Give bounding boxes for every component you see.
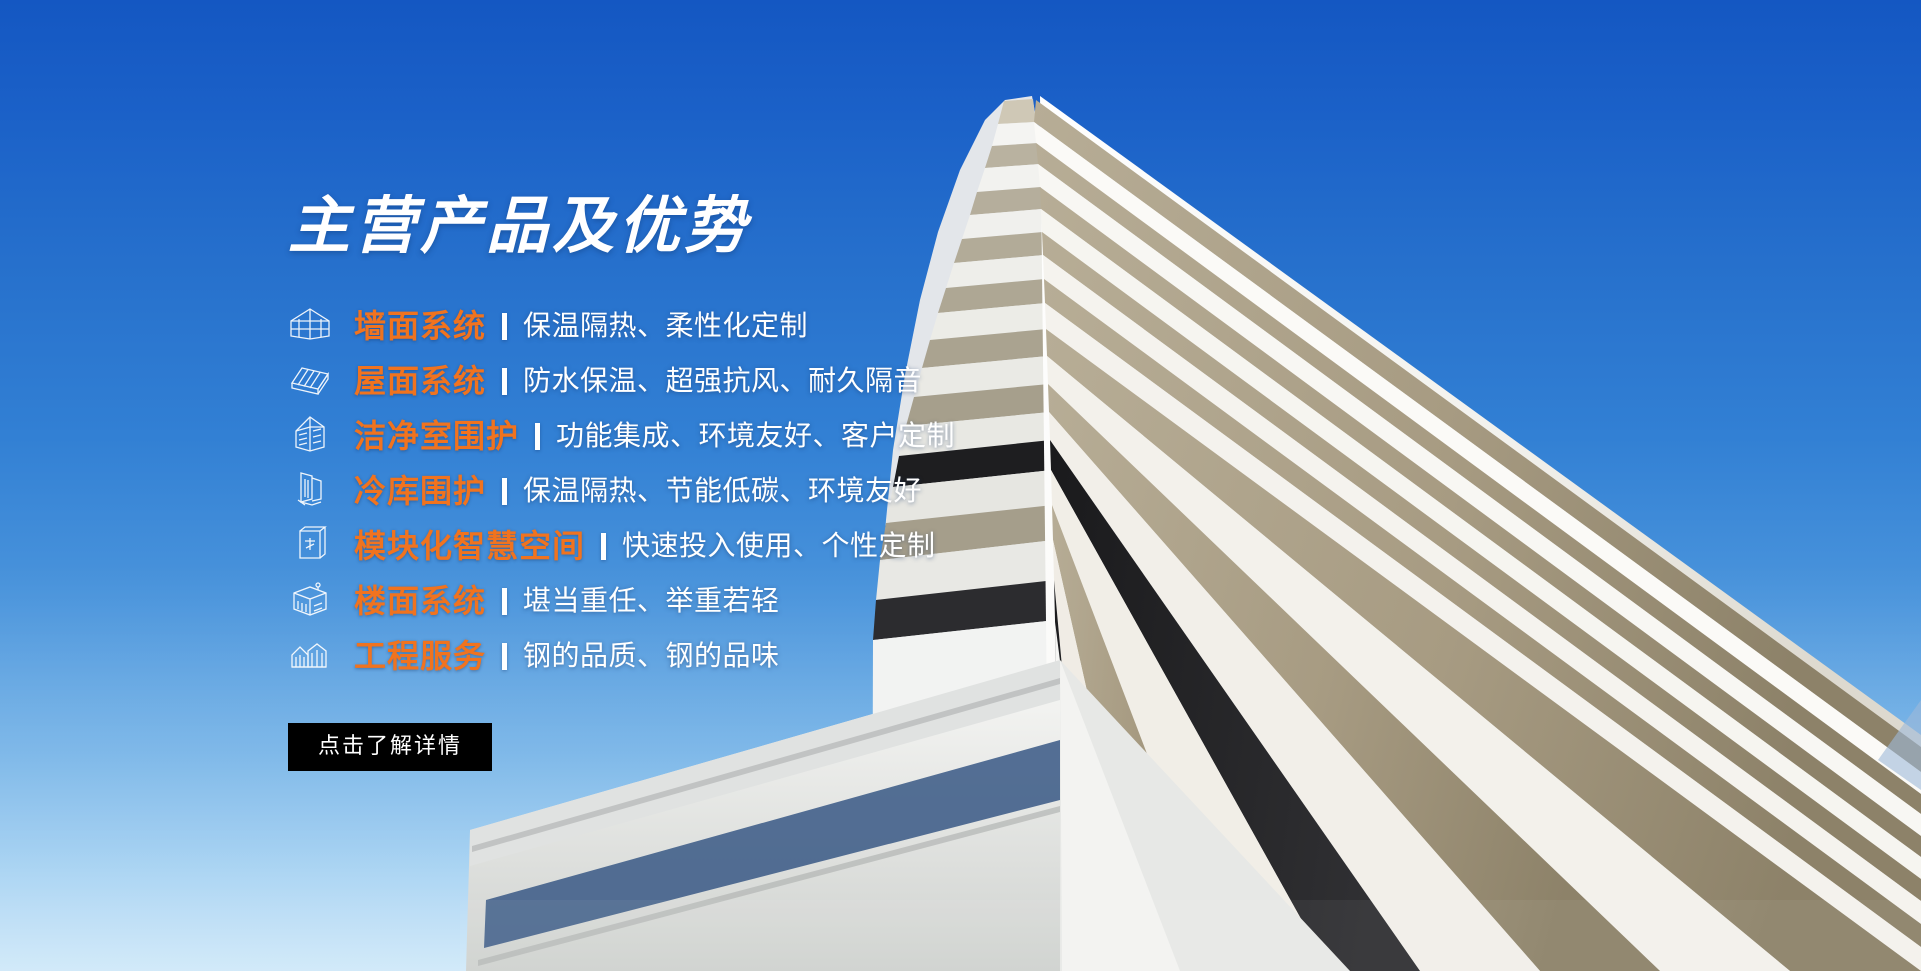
feature-item-cleanroom-enclosure[interactable]: 洁净室围护 功能集成、环境友好、客户定制 bbox=[288, 406, 1148, 461]
feature-item-wall-system[interactable]: 墙面系统 保温隔热、柔性化定制 bbox=[288, 296, 1148, 351]
feature-item-engineering-service[interactable]: 工程服务 钢的品质、钢的品味 bbox=[288, 626, 1148, 681]
feature-description: 保温隔热、柔性化定制 bbox=[523, 304, 808, 344]
feature-list: 墙面系统 保温隔热、柔性化定制 屋面系统 防水保温、超强抗风、耐久隔音 bbox=[288, 296, 1148, 681]
feature-item-floor-system[interactable]: 楼面系统 堪当重任、举重若轻 bbox=[288, 571, 1148, 626]
feature-separator bbox=[502, 643, 507, 670]
feature-item-roof-system[interactable]: 屋面系统 防水保温、超强抗风、耐久隔音 bbox=[288, 351, 1148, 406]
feature-description: 堪当重任、举重若轻 bbox=[523, 579, 780, 619]
wall-panel-icon bbox=[288, 302, 332, 346]
feature-separator bbox=[502, 368, 507, 395]
hero-banner: 主营产品及优势 墙面系统 保温隔热、柔性化定制 bbox=[0, 0, 1921, 971]
roof-panel-icon bbox=[288, 357, 332, 401]
feature-separator bbox=[601, 533, 606, 560]
feature-item-modular-smart-space[interactable]: 模块化智慧空间 快速投入使用、个性定制 bbox=[288, 516, 1148, 571]
feature-description: 快速投入使用、个性定制 bbox=[622, 524, 936, 564]
feature-separator bbox=[502, 313, 507, 340]
feature-name: 工程服务 bbox=[354, 631, 486, 677]
page-title: 主营产品及优势 bbox=[288, 196, 1148, 258]
feature-description: 防水保温、超强抗风、耐久隔音 bbox=[523, 359, 922, 399]
engineering-service-icon bbox=[288, 632, 332, 676]
feature-description: 功能集成、环境友好、客户定制 bbox=[556, 414, 955, 454]
feature-name: 模块化智慧空间 bbox=[354, 521, 585, 567]
feature-description: 保温隔热、节能低碳、环境友好 bbox=[523, 469, 922, 509]
coldstorage-icon bbox=[288, 467, 332, 511]
feature-description: 钢的品质、钢的品味 bbox=[523, 634, 780, 674]
feature-separator bbox=[502, 478, 507, 505]
feature-name: 洁净室围护 bbox=[354, 411, 519, 457]
feature-name: 冷库围护 bbox=[354, 466, 486, 512]
feature-name: 楼面系统 bbox=[354, 576, 486, 622]
feature-name: 屋面系统 bbox=[354, 356, 486, 402]
modular-space-icon bbox=[288, 522, 332, 566]
feature-separator bbox=[502, 588, 507, 615]
floor-system-icon bbox=[288, 577, 332, 621]
learn-more-button[interactable]: 点击了解详情 bbox=[288, 723, 492, 771]
feature-name: 墙面系统 bbox=[354, 301, 486, 347]
hero-content: 主营产品及优势 墙面系统 保温隔热、柔性化定制 bbox=[288, 196, 1148, 771]
feature-item-cold-storage-enclosure[interactable]: 冷库围护 保温隔热、节能低碳、环境友好 bbox=[288, 461, 1148, 516]
feature-separator bbox=[535, 423, 540, 450]
cleanroom-icon bbox=[288, 412, 332, 456]
